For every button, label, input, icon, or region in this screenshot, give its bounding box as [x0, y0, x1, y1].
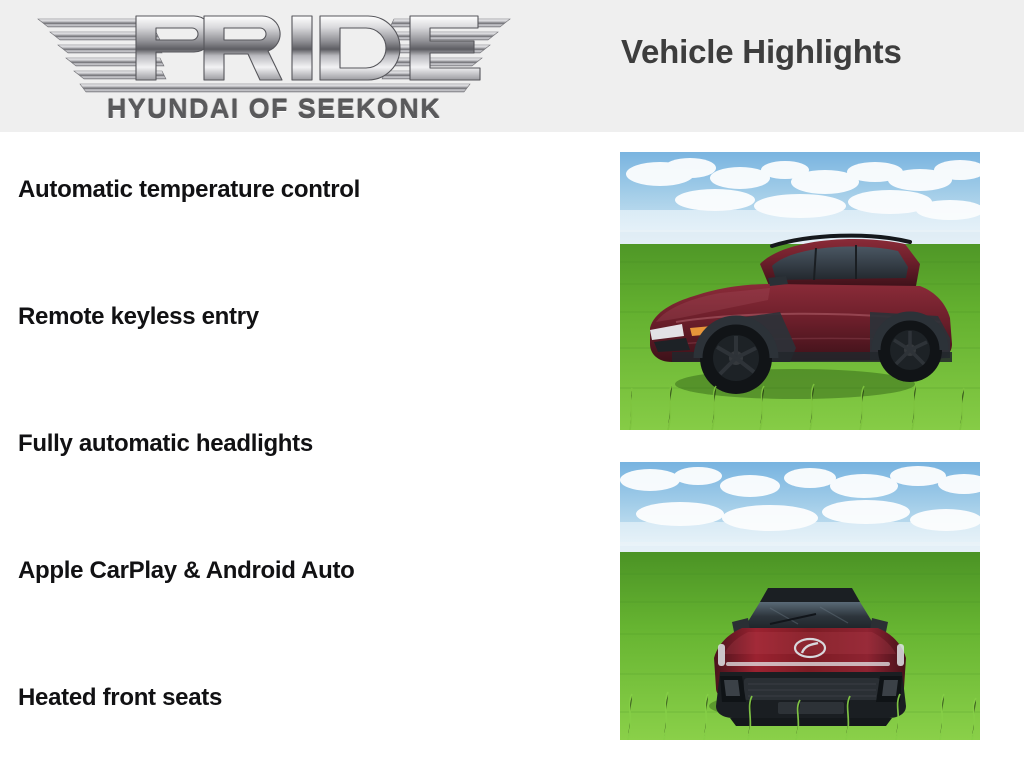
list-item: Fully automatic headlights — [18, 430, 313, 458]
page-title: Vehicle Highlights — [621, 33, 902, 71]
list-item: Automatic temperature control — [18, 176, 360, 204]
dealer-logo[interactable]: HYUNDAI OF SEEKONK — [24, 8, 524, 126]
list-item: Remote keyless entry — [18, 303, 259, 331]
pride-wings-chrome-logo — [24, 8, 524, 96]
dealer-logo-subtitle: HYUNDAI OF SEEKONK — [24, 94, 524, 125]
vehicle-photo-side-front-three-quarter[interactable] — [620, 152, 980, 430]
vehicle-photo-front[interactable] — [620, 462, 980, 740]
vehicle-highlights-list: Automatic temperature control Remote key… — [18, 132, 578, 768]
page-header: HYUNDAI OF SEEKONK Vehicle Highlights — [0, 0, 1024, 132]
list-item: Heated front seats — [18, 684, 222, 712]
vehicle-highlights-page: HYUNDAI OF SEEKONK Vehicle Highlights Au… — [0, 0, 1024, 768]
list-item: Apple CarPlay & Android Auto — [18, 557, 355, 585]
